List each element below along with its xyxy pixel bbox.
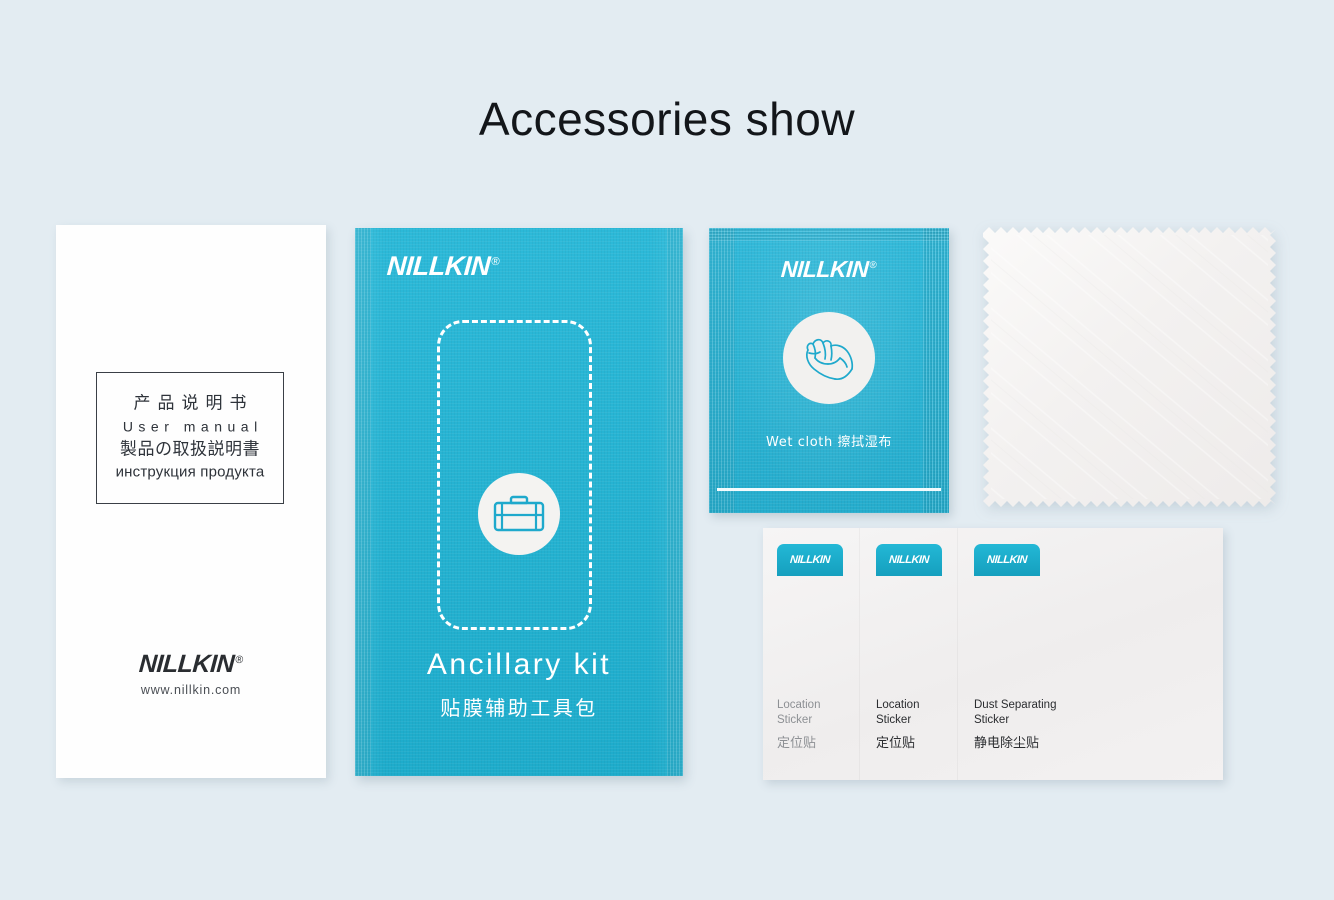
sticker-dust-separating[interactable]: NILLKIN® Dust Separating Sticker 静电除尘贴 <box>957 528 1223 780</box>
sachet-top-crimp <box>709 228 949 241</box>
sticker-label-chinese: 定位贴 <box>876 735 919 752</box>
nillkin-logo-text: NILLKIN <box>987 554 1028 566</box>
nillkin-logo-text: NILLKIN <box>386 251 491 281</box>
sticker-label: Dust Separating Sticker 静电除尘贴 <box>974 698 1056 753</box>
manual-title-box: 产品说明书 User manual 製品の取扱説明書 инструкция пр… <box>96 372 284 504</box>
manual-brand-block: NILLKIN® www.nillkin.com <box>56 650 326 697</box>
nillkin-logo-text: NILLKIN <box>790 554 831 566</box>
sticker-tab[interactable]: NILLKIN® <box>777 544 843 576</box>
manual-title-japanese: 製品の取扱説明書 <box>97 437 283 462</box>
wet-cloth-sachet: NILLKIN® Wet cloth 擦拭 <box>709 228 949 513</box>
ancillary-kit-pouch: NILLKIN® Ancillary kit 贴膜辅助工具包 <box>355 228 683 776</box>
registered-trademark-icon: ® <box>491 256 500 268</box>
manual-title-russian: инструкция продукта <box>97 462 283 485</box>
accessories-showcase: Accessories show 产品说明书 User manual 製品の取扱… <box>0 0 1334 900</box>
nillkin-logo-text: NILLKIN <box>780 256 869 282</box>
manual-website-url: www.nillkin.com <box>56 683 326 697</box>
sticker-label: Location Sticker 定位贴 <box>777 698 820 753</box>
nillkin-logo: NILLKIN® <box>780 256 877 283</box>
user-manual-card: 产品说明书 User manual 製品の取扱説明書 инструкция пр… <box>56 225 326 778</box>
sticker-label: Location Sticker 定位贴 <box>876 698 919 753</box>
registered-trademark-icon: ® <box>235 654 244 666</box>
toolbox-icon <box>492 493 546 535</box>
hand-wiping-cloth-icon <box>795 326 863 390</box>
hand-wiping-cloth-badge <box>783 312 875 404</box>
sticker-sheet: NILLKIN® Location Sticker 定位贴 NILLKIN® L… <box>763 528 1223 780</box>
sachet-brand-logo: NILLKIN® <box>709 256 949 283</box>
pouch-caption: Ancillary kit 贴膜辅助工具包 <box>355 648 683 721</box>
manual-title-lines: 产品说明书 User manual 製品の取扱説明書 инструкция пр… <box>97 392 283 485</box>
sticker-label-english: Location Sticker <box>777 698 820 728</box>
manual-title-chinese: 产品说明书 <box>97 392 283 417</box>
pouch-caption-chinese: 贴膜辅助工具包 <box>355 692 683 721</box>
nillkin-logo: NILLKIN® <box>790 554 831 566</box>
pouch-caption-english: Ancillary kit <box>355 648 683 682</box>
sticker-label-english: Dust Separating Sticker <box>974 698 1056 728</box>
microfiber-cloth <box>983 227 1276 507</box>
sticker-location-2[interactable]: NILLKIN® Location Sticker 定位贴 <box>859 528 957 780</box>
sticker-location-1[interactable]: NILLKIN® Location Sticker 定位贴 <box>763 528 859 780</box>
sachet-tear-strip <box>717 488 941 491</box>
microfiber-cloth-shape <box>983 227 1276 507</box>
toolbox-icon-badge <box>478 473 560 555</box>
nillkin-logo-text: NILLKIN <box>889 554 930 566</box>
registered-trademark-icon: ® <box>869 260 877 271</box>
sticker-label-chinese: 定位贴 <box>777 735 820 752</box>
nillkin-logo: NILLKIN® <box>889 554 930 566</box>
sachet-caption: Wet cloth 擦拭湿布 <box>709 431 949 450</box>
nillkin-logo: NILLKIN® <box>138 650 244 679</box>
sticker-label-chinese: 静电除尘贴 <box>974 735 1056 752</box>
pouch-brand-logo: NILLKIN® <box>387 251 499 282</box>
page-title: Accessories show <box>0 92 1334 146</box>
manual-title-english: User manual <box>97 416 283 437</box>
sticker-label-english: Location Sticker <box>876 698 919 728</box>
nillkin-logo: NILLKIN® <box>386 251 501 282</box>
nillkin-logo-text: NILLKIN <box>138 650 235 678</box>
sticker-tab[interactable]: NILLKIN® <box>974 544 1040 576</box>
sticker-tab[interactable]: NILLKIN® <box>876 544 942 576</box>
nillkin-logo: NILLKIN® <box>987 554 1028 566</box>
